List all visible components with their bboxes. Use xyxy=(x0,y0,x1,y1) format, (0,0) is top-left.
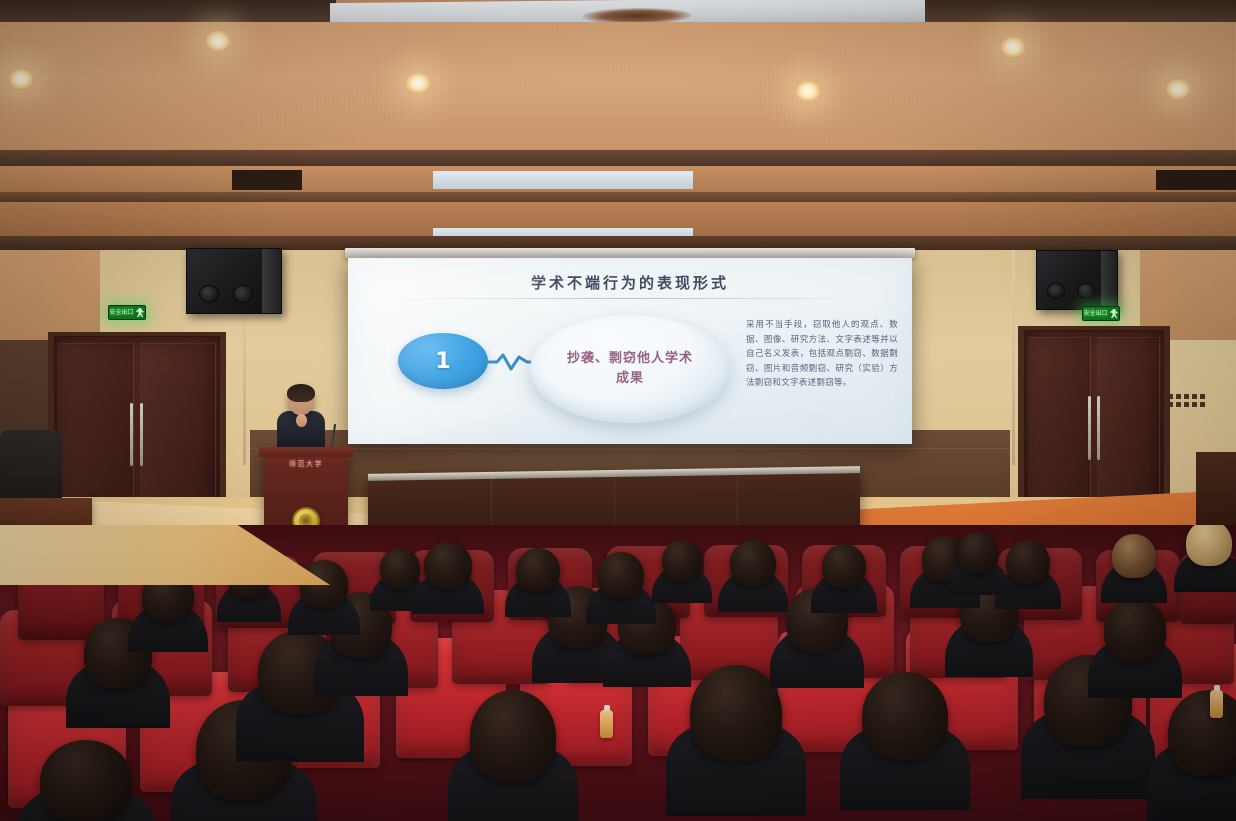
audience-head xyxy=(424,542,472,588)
door-handle[interactable] xyxy=(1097,396,1100,461)
podium-top xyxy=(259,447,353,457)
emergency-exit-sign-left: 安全出口 xyxy=(108,305,146,320)
audience-head xyxy=(690,665,782,761)
projector-screen-housing xyxy=(345,248,915,258)
ceiling-downlight xyxy=(1000,36,1026,58)
wall-speaker-right xyxy=(1036,250,1118,310)
speaker-side-panel xyxy=(262,249,281,313)
wall-band-upper-dark xyxy=(0,150,1236,166)
exit-sign-label-left: 安全出口 xyxy=(109,310,133,316)
door-leaf[interactable] xyxy=(140,343,215,516)
door-leaf[interactable] xyxy=(1097,337,1160,516)
slide-number-badge-label: 1 xyxy=(435,349,450,374)
audience-head xyxy=(470,690,556,782)
entrance-door-right[interactable] xyxy=(1024,330,1164,522)
ceiling-texture xyxy=(0,22,1236,162)
water-bottle xyxy=(1210,690,1223,718)
audience-head xyxy=(380,548,420,588)
ceiling-downlight xyxy=(1165,78,1191,100)
audience-head xyxy=(516,548,560,592)
door-leaf[interactable] xyxy=(1028,337,1091,516)
podium-name-plate: 师范大学 xyxy=(268,458,344,470)
presenter-hair xyxy=(287,384,315,402)
emergency-exit-sign-right: 安全出口 xyxy=(1082,306,1120,321)
entrance-door-left[interactable] xyxy=(54,336,220,522)
presenter xyxy=(275,386,327,448)
running-person-exit-icon xyxy=(1110,309,1119,318)
wall-upper-left xyxy=(0,250,100,340)
audience-head xyxy=(1186,525,1232,566)
speaker-cone xyxy=(199,285,219,303)
slide-title: 学术不端行为的表现形式 xyxy=(348,272,912,293)
water-bottle xyxy=(600,710,613,738)
audience-head xyxy=(40,740,132,821)
audience-head xyxy=(1112,534,1156,578)
audience-head xyxy=(822,544,866,588)
speaker-cone xyxy=(1077,283,1095,299)
door-handle[interactable] xyxy=(130,403,133,466)
audience-head xyxy=(958,532,998,572)
door-handle[interactable] xyxy=(140,403,143,466)
slide-body-text: 采用不当手段，窃取他人的观点、数据、图像、研究方法、文字表述等并以自己名义发表，… xyxy=(746,318,898,391)
ceiling-downlight xyxy=(405,72,431,94)
audience-head xyxy=(730,540,776,586)
wall-vent-grid xyxy=(1168,394,1205,407)
side-chair xyxy=(0,430,62,500)
ceiling-downlight xyxy=(205,30,231,52)
slide-main-topic-label: 抄袭、剽窃他人学术成果 xyxy=(566,349,694,389)
ceiling-downlight xyxy=(795,80,821,102)
audience-head xyxy=(1104,598,1166,662)
slide-main-topic-ellipse: 抄袭、剽窃他人学术成果 xyxy=(530,315,730,423)
audience-head xyxy=(598,552,644,598)
ceiling-slot-left xyxy=(232,170,302,190)
ceiling xyxy=(0,22,1236,162)
door-leaf[interactable] xyxy=(58,343,133,516)
audience-head xyxy=(1006,540,1050,584)
ceiling-downlight xyxy=(8,68,34,90)
speaker-cone xyxy=(1047,283,1065,299)
slide-number-badge: 1 xyxy=(398,333,488,389)
right-console-desk xyxy=(1196,452,1236,532)
speaker-side-panel xyxy=(1101,251,1117,309)
speaker-cone xyxy=(233,285,253,303)
projection-screen: 学术不端行为的表现形式 1 抄袭、剽窃他人学术成果 采用不当手段，窃取他人的观点… xyxy=(348,258,912,444)
wall-seam-right xyxy=(1012,250,1015,465)
wall-band-mid-dark xyxy=(0,192,1236,202)
upper-light-valance-1 xyxy=(433,171,693,189)
audience-head xyxy=(1168,690,1236,776)
presenter-hand xyxy=(296,414,307,427)
exit-sign-label-right: 安全出口 xyxy=(1083,311,1107,317)
wall-speaker-left xyxy=(186,248,282,314)
running-person-exit-icon xyxy=(136,308,145,317)
audience-head xyxy=(862,672,948,760)
ceiling-slot-right xyxy=(1156,170,1236,190)
audience-head xyxy=(662,540,702,580)
slide-title-divider xyxy=(390,298,870,299)
lecture-hall-screenshot: 安全出口 安全出口 学术不端行为的表现形式 1 xyxy=(0,0,1236,821)
